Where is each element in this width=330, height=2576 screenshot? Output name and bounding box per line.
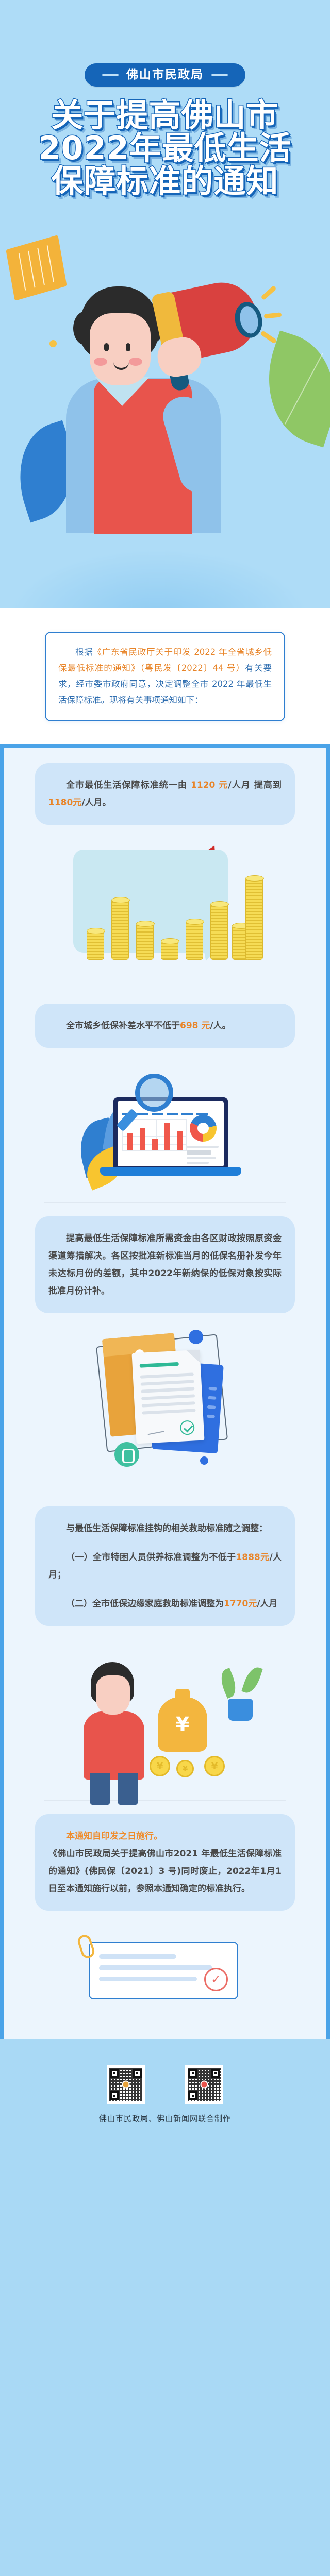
card-standard-t2: /人月 提高到 [228,780,282,790]
card-standard-old-value: 1120 元 [191,780,228,790]
coin-icon-3: ¥ [204,1756,225,1776]
hero-section: 佛山市民政局 关于提高佛山市 2022年最低生活 保障标准的通知 [0,0,330,608]
person-cheek-left [94,358,107,366]
certificate-illustration [57,1920,273,2023]
approval-stamp-icon [204,1968,228,1991]
coin-stack-2 [111,899,129,960]
money-illustration: ¥ ¥ ¥ ¥ [57,1634,273,1784]
plant-pot [228,1699,253,1721]
agency-badge-label: 佛山市民政局 [126,69,204,81]
yellow-dot-decoration [49,340,57,347]
intro-paragraph: 根据《广东省民政厅关于印发 2022 年全省城乡低保最低标准的通知》（粤民发〔2… [58,644,272,708]
megaphone-ray-2 [264,312,282,319]
coin-stack-4 [161,940,178,960]
dashboard-bar-chart [122,1119,187,1151]
card-effective-head-text: 本通知自印发之日施行。 [66,1831,162,1841]
card-subsidy-t2: /人。 [210,1021,230,1031]
title-line-2: 2022年最低生活 [0,132,330,165]
coin-stack-5 [186,921,203,960]
certificate-card [89,1942,238,1999]
agency-badge: 佛山市民政局 [85,63,245,87]
card-standard-t4: /人月。 [81,798,111,808]
card-standard-t0: 全市最低生活保障标准统一由 [66,780,191,790]
card-related-lead: 与最低生活保障标准挂钩的相关救助标准随之调整： [48,1520,282,1537]
plant-leaf-left [217,1668,240,1699]
card-related-item-1-t0: （一）全市特困人员供养标准调整为不低于 [66,1552,236,1563]
page-folded-corner [186,1350,200,1364]
magnifier-icon [135,1074,173,1112]
person-eye-right [126,343,130,351]
card-funding-text: 提高最低生活保障标准所需资金由各区财政按照原资金渠道筹措解决。各区按批准新标准当… [48,1230,282,1300]
money-person-body [84,1711,144,1780]
page-title: 关于提高佛山市 2022年最低生活 保障标准的通知 [0,99,330,198]
coin-stack-1 [87,930,104,960]
dashboard-bar-5 [177,1131,183,1150]
megaphone-ray-3 [260,330,277,344]
qr-code-civil-affairs[interactable] [107,2065,145,2104]
money-person-leg-right [118,1773,138,1805]
coin-stack-6 [210,903,228,960]
plant-icon [222,1664,259,1721]
card-related-item-2-value: 1770元 [224,1599,257,1609]
card-subsidy: 全市城乡低保补差水平不低于698 元/人。 [35,1004,295,1048]
card-effective: 本通知自印发之日施行。 《佛山市民政局关于提高佛山市2021 年最低生活保障标准… [35,1814,295,1911]
card-subsidy-text: 全市城乡低保补差水平不低于698 元/人。 [48,1017,282,1035]
dashboard-bar-4 [164,1123,170,1150]
card-related-item-2: （二）全市低保边缘家庭救助标准调整为1770元/人月 [48,1595,282,1613]
yuan-symbol: ¥ [158,1715,207,1734]
dashboard-donut-chart [190,1115,217,1142]
qr-logo-1 [122,2081,130,2089]
intro-text-before: 根据 [75,647,93,657]
card-related-item-2-t0: （二）全市低保边缘家庭救助标准调整为 [66,1599,224,1609]
badge-dash-right [211,74,228,76]
money-bag-icon: ¥ [158,1697,207,1752]
card-effective-head: 本通知自印发之日施行。 [48,1827,282,1845]
card-subsidy-t0: 全市城乡低保补差水平不低于 [66,1021,180,1031]
person-cheek-right [129,358,142,366]
laptop-keyboard-base [100,1167,241,1176]
check-circle-icon [179,1420,194,1435]
footer-credit: 佛山市民政局、佛山新闻网联合制作 [0,2113,330,2124]
badge-dash-left [102,74,119,76]
title-line-1: 关于提高佛山市 [0,99,330,132]
card-related-item-1: （一）全市特困人员供养标准调整为不低于1888元/人月； [48,1549,282,1584]
card-effective-body: 《佛山市民政局关于提高佛山市2021 年最低生活保障标准的通知》(佛民保〔202… [48,1845,282,1897]
card-related-item-2-t2: /人月 [257,1599,277,1609]
laptop-screen [113,1097,228,1171]
content-panel-inner: 全市最低生活保障标准统一由 1120 元/人月 提高到 1180元/人月。 全市… [4,748,326,2039]
documents-illustration [57,1321,273,1476]
intro-section: 根据《广东省民政厅关于印发 2022 年全省城乡低保最低标准的通知》（粤民发〔2… [0,608,330,744]
card-standard: 全市最低生活保障标准统一由 1120 元/人月 提高到 1180元/人月。 [35,763,295,825]
person-face [90,313,151,385]
card-related-item-1-value: 1888元 [236,1552,269,1563]
plant-leaf-right [241,1665,262,1695]
coin-stack-3 [136,923,154,960]
footer-section: 佛山市民政局、佛山新闻网联合制作 [0,2039,330,2155]
money-person [75,1662,153,1775]
page-heading-bar [140,1362,179,1368]
blue-dot-small [200,1456,208,1465]
qr-logo-2 [201,2081,208,2089]
intro-card: 根据《广东省民政厅关于印发 2022 年全省城乡低保最低标准的通知》（粤民发〔2… [45,632,285,721]
dashboard-bar-3 [152,1139,158,1150]
hero-illustration [0,185,330,608]
lock-icon [114,1442,139,1467]
dashboard-bar-2 [140,1128,145,1150]
content-panel: 全市最低生活保障标准统一由 1120 元/人月 提高到 1180元/人月。 全市… [0,744,330,2039]
coin-icon-2: ¥ [176,1760,194,1777]
card-standard-new-value: 1180元 [48,798,81,808]
signature-mark [146,1425,164,1435]
megaphone-ray-1 [260,285,276,300]
laptop-dashboard-illustration [57,1057,273,1186]
card-related: 与最低生活保障标准挂钩的相关救助标准随之调整： （一）全市特困人员供养标准调整为… [35,1506,295,1626]
person-smile [113,361,129,370]
card-standard-text: 全市最低生活保障标准统一由 1120 元/人月 提高到 1180元/人月。 [48,776,282,811]
megaphone-icon [145,277,269,380]
card-subsidy-value: 698 元 [180,1021,210,1031]
dashboard-legend-lines [187,1146,219,1166]
coin-stack-8 [245,877,263,960]
coin-chart-illustration [62,832,268,971]
person-eye-left [104,343,109,351]
qr-code-news-site[interactable] [185,2065,223,2104]
card-funding: 提高最低生活保障标准所需资金由各区财政按照原资金渠道筹措解决。各区按批准新标准当… [35,1216,295,1313]
qr-code-row [0,2065,330,2104]
dashboard-bar-1 [127,1133,133,1150]
orange-paper-decoration [6,235,67,301]
money-person-leg-left [90,1773,110,1805]
document-page-icon [131,1350,204,1444]
coin-icon-1: ¥ [150,1756,170,1776]
blue-dot-large [189,1330,203,1344]
money-person-face [96,1675,130,1715]
